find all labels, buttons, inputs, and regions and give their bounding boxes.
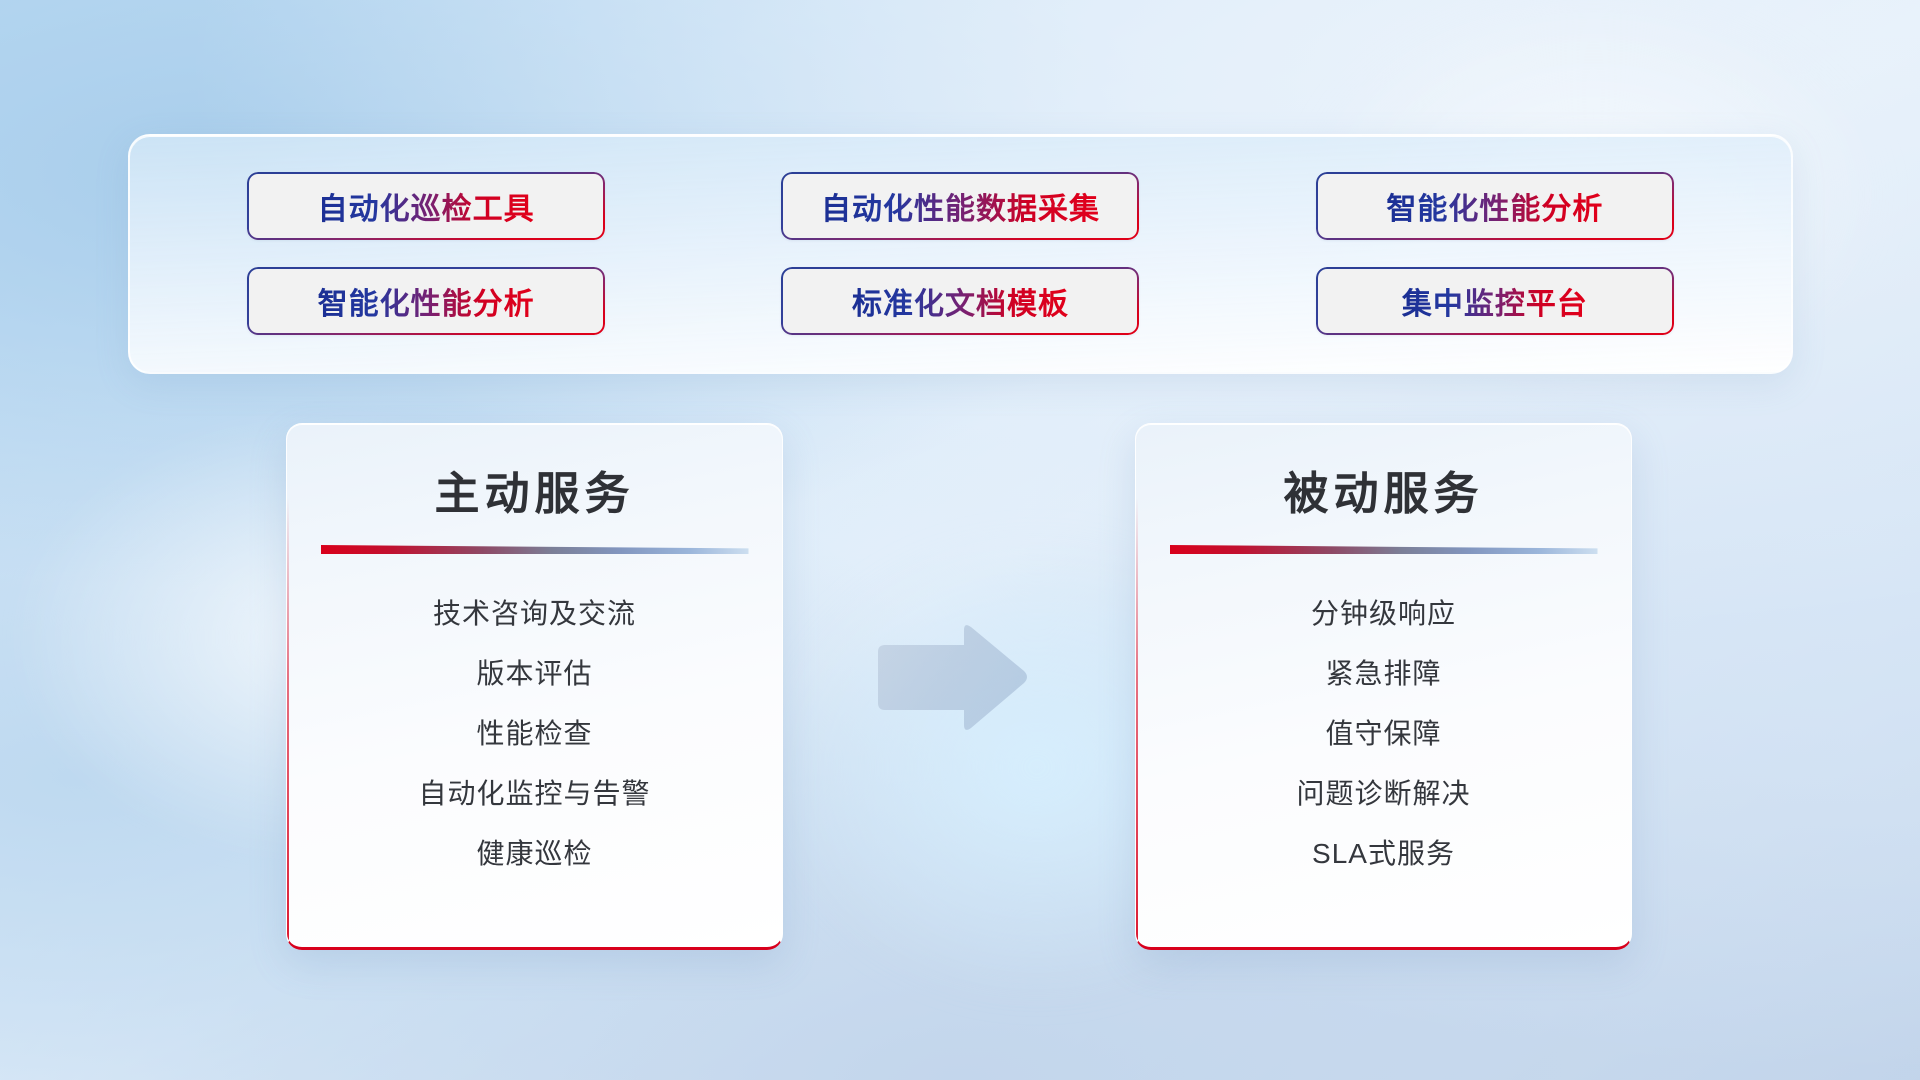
title-divider xyxy=(321,545,749,554)
arrow-right-icon xyxy=(872,618,1032,738)
service-list-item: SLA式服务 xyxy=(1136,824,1631,884)
capability-pill-label: 智能化性能分析 xyxy=(1386,184,1603,228)
service-card-active: 主动服务 技术咨询及交流 版本评估 性能检查 自动化监控与告警 健康巡检 xyxy=(286,423,783,950)
service-list-item: 技术咨询及交流 xyxy=(287,584,782,644)
capability-pill-label: 自动化巡检工具 xyxy=(318,184,535,228)
title-divider xyxy=(1170,545,1598,554)
capability-pill-label: 智能化性能分析 xyxy=(318,279,535,323)
service-card-passive: 被动服务 分钟级响应 紧急排障 值守保障 问题诊断解决 SLA式服务 xyxy=(1135,423,1632,950)
capability-pill-5[interactable]: 标准化文档模板 xyxy=(781,267,1139,335)
service-list-item: 紧急排障 xyxy=(1136,644,1631,704)
service-list-item: 问题诊断解决 xyxy=(1136,764,1631,824)
capability-pill-2[interactable]: 自动化性能数据采集 xyxy=(781,172,1139,240)
service-list-item: 性能检查 xyxy=(287,704,782,764)
service-list-item: 分钟级响应 xyxy=(1136,584,1631,644)
service-list-item: 健康巡检 xyxy=(287,824,782,884)
service-item-list: 分钟级响应 紧急排障 值守保障 问题诊断解决 SLA式服务 xyxy=(1136,584,1631,884)
capability-pill-label: 自动化性能数据采集 xyxy=(821,184,1100,228)
service-list-item: 版本评估 xyxy=(287,644,782,704)
capability-pill-3[interactable]: 智能化性能分析 xyxy=(1316,172,1674,240)
capability-pill-label: 集中监控平台 xyxy=(1402,279,1588,323)
service-list-item: 自动化监控与告警 xyxy=(287,764,782,824)
capability-panel: 自动化巡检工具 自动化性能数据采集 智能化性能分析 智能化性能分析 标准化文档模… xyxy=(128,134,1793,374)
service-list-item: 值守保障 xyxy=(1136,704,1631,764)
capability-pill-label: 标准化文档模板 xyxy=(852,279,1069,323)
service-card-title: 被动服务 xyxy=(1136,457,1631,522)
service-item-list: 技术咨询及交流 版本评估 性能检查 自动化监控与告警 健康巡检 xyxy=(287,584,782,884)
capability-pill-6[interactable]: 集中监控平台 xyxy=(1316,267,1674,335)
capability-pill-1[interactable]: 自动化巡检工具 xyxy=(247,172,605,240)
service-card-title: 主动服务 xyxy=(287,457,782,522)
capability-pill-4[interactable]: 智能化性能分析 xyxy=(247,267,605,335)
